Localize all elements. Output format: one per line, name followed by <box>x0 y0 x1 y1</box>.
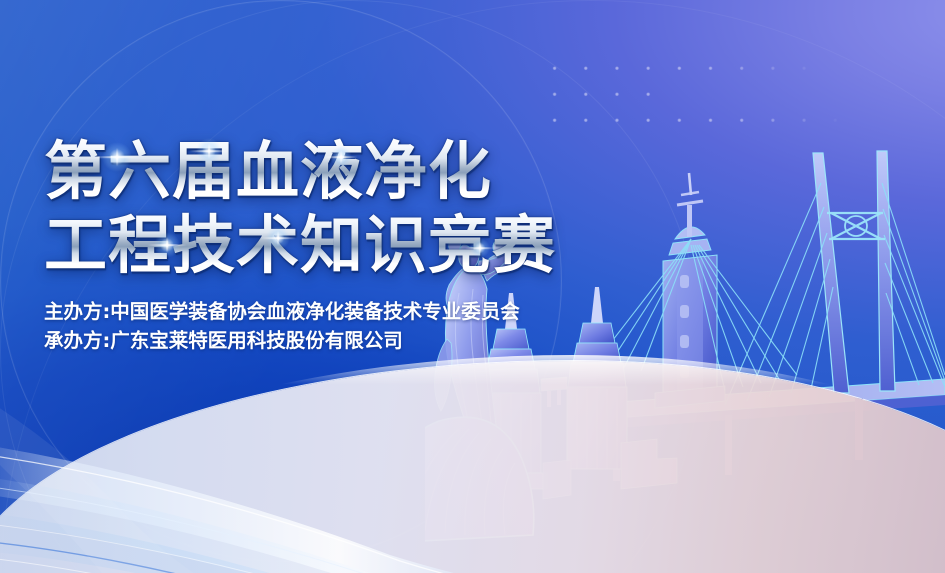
dot-grid-pattern-row-3 <box>536 104 846 132</box>
co-organizer-credit-line: 承办方:广东宝莱特医用科技股份有限公司 <box>44 327 664 354</box>
opera-house-dome <box>425 417 534 543</box>
banner-text-block: 第六届血液净化 工程技术知识竞赛 主办方:中国医学装备协会血液净化装备技术专业委… <box>44 136 664 354</box>
ground-plane <box>0 361 945 573</box>
organizer-credit-line: 主办方:中国医学装备协会血液净化装备技术专业委员会 <box>44 298 664 325</box>
dot-grid-pattern-row-2 <box>536 78 666 106</box>
banner-title-line-2: 工程技术知识竞赛 <box>44 210 664 282</box>
banner-title-line-1: 第六届血液净化 <box>44 136 664 208</box>
event-banner: 第六届血液净化 工程技术知识竞赛 主办方:中国医学装备协会血液净化装备技术专业委… <box>0 0 945 573</box>
dot-grid-pattern-row-1 <box>536 52 832 82</box>
ground-plane-highlight <box>0 355 945 573</box>
low-rise-buildings <box>543 439 677 499</box>
light-ribbon-swoosh <box>0 323 750 573</box>
